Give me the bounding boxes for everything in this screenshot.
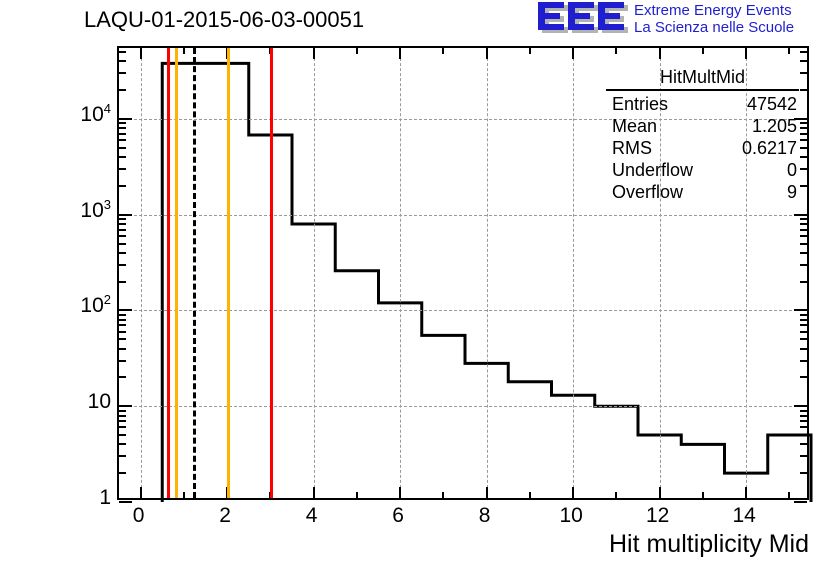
- y-axis-minor-tick: [800, 243, 807, 245]
- y-axis-minor-tick: [119, 455, 126, 457]
- x-axis-tick: [313, 48, 315, 59]
- x-axis-tick: [572, 487, 574, 498]
- y-axis-minor-tick: [119, 443, 126, 445]
- gridline-horizontal: [119, 310, 807, 311]
- stats-value: 0: [787, 159, 797, 181]
- x-axis-minor-tick: [788, 492, 790, 498]
- x-axis-tick: [745, 487, 747, 498]
- y-axis-tick: [119, 214, 132, 216]
- y-axis-tick-label: 10: [53, 391, 111, 413]
- x-axis-minor-tick: [183, 492, 185, 498]
- x-axis-tick: [745, 48, 747, 59]
- y-axis-minor-tick: [119, 243, 126, 245]
- stats-value: 47542: [747, 93, 797, 115]
- y-axis-minor-tick: [119, 420, 126, 422]
- stats-box: HitMultMid Entries47542Mean1.205RMS0.621…: [606, 66, 799, 203]
- y-axis-minor-tick: [800, 89, 807, 91]
- y-axis-minor-tick: [119, 324, 126, 326]
- marker-line-orange-upper: [227, 48, 230, 498]
- stats-rows: Entries47542Mean1.205RMS0.6217Underflow0…: [606, 93, 799, 203]
- gridline-vertical: [573, 48, 574, 498]
- y-axis-minor-tick: [119, 147, 126, 149]
- root-canvas: LAQU-01-2015-06-03-00051: [0, 0, 836, 572]
- x-axis-tick: [659, 487, 661, 498]
- y-axis-minor-tick: [119, 89, 126, 91]
- x-axis-minor-tick: [183, 48, 185, 54]
- y-axis-minor-tick: [119, 218, 126, 220]
- y-axis-minor-tick: [800, 229, 807, 231]
- y-axis-minor-tick: [800, 218, 807, 220]
- x-axis-minor-tick: [615, 492, 617, 498]
- marker-line-red-upper: [270, 48, 273, 498]
- y-axis-minor-tick: [119, 360, 126, 362]
- y-axis-tick: [119, 118, 132, 120]
- x-axis-minor-tick: [702, 492, 704, 498]
- x-axis-tick: [399, 48, 401, 59]
- gridline-horizontal: [119, 406, 807, 407]
- y-axis-minor-tick: [119, 376, 126, 378]
- y-axis-minor-tick: [119, 156, 126, 158]
- stats-divider: [606, 89, 799, 91]
- x-axis-tick: [140, 487, 142, 498]
- eee-logo-mark-icon: [536, 2, 628, 36]
- x-axis-minor-tick: [702, 48, 704, 54]
- page-title: LAQU-01-2015-06-03-00051: [84, 6, 364, 34]
- eee-logo: Extreme Energy Events La Scienza nelle S…: [536, 2, 834, 38]
- y-axis-minor-tick: [800, 60, 807, 62]
- stats-value: 1.205: [752, 115, 797, 137]
- y-axis-minor-tick: [119, 72, 126, 74]
- gridline-vertical: [400, 48, 401, 498]
- y-axis-minor-tick: [800, 133, 807, 135]
- stats-label: RMS: [612, 137, 652, 159]
- y-axis-minor-tick: [119, 223, 126, 225]
- y-axis-minor-tick: [800, 472, 807, 474]
- stats-label: Overflow: [612, 181, 683, 203]
- stats-value: 9: [787, 181, 797, 203]
- y-axis-minor-tick: [800, 281, 807, 283]
- eee-logo-line1: Extreme Energy Events: [634, 2, 794, 19]
- marker-line-mean-line: [193, 48, 196, 498]
- y-axis-tick: [119, 501, 132, 503]
- y-axis-tick-label: 103: [53, 200, 111, 222]
- y-axis-minor-tick: [800, 264, 807, 266]
- x-axis-tick-label: 4: [292, 504, 332, 528]
- y-axis-minor-tick: [119, 235, 126, 237]
- gridline-vertical: [141, 48, 142, 498]
- y-axis-minor-tick: [119, 331, 126, 333]
- x-axis-tick-label: 10: [551, 504, 591, 528]
- y-axis-minor-tick: [800, 348, 807, 350]
- y-axis-tick: [119, 405, 132, 407]
- stats-value: 0.6217: [742, 137, 797, 159]
- y-axis-minor-tick: [800, 314, 807, 316]
- y-axis-tick-label: 104: [53, 104, 111, 126]
- y-axis-minor-tick: [800, 235, 807, 237]
- y-axis-minor-tick: [119, 348, 126, 350]
- y-axis-tick-label: 1: [53, 487, 111, 509]
- y-axis-minor-tick: [800, 360, 807, 362]
- x-axis-tick: [140, 48, 142, 59]
- y-axis-tick: [794, 309, 807, 311]
- y-axis-minor-tick: [119, 168, 126, 170]
- x-axis-tick: [486, 487, 488, 498]
- y-axis-minor-tick: [119, 472, 126, 474]
- x-axis-tick-label: 12: [638, 504, 678, 528]
- y-axis-minor-tick: [800, 156, 807, 158]
- y-axis-tick: [794, 214, 807, 216]
- y-axis-minor-tick: [800, 252, 807, 254]
- y-axis-minor-tick: [800, 338, 807, 340]
- y-axis-tick: [794, 501, 807, 503]
- y-axis-minor-tick: [800, 127, 807, 129]
- x-axis-tick-label: 0: [119, 504, 159, 528]
- x-axis-tick: [659, 48, 661, 59]
- x-axis-tick: [486, 48, 488, 59]
- x-axis-minor-tick: [442, 492, 444, 498]
- x-axis-minor-tick: [356, 48, 358, 54]
- stats-row: Entries47542: [606, 93, 799, 115]
- y-axis-minor-tick: [800, 139, 807, 141]
- y-axis-minor-tick: [119, 122, 126, 124]
- x-axis-minor-tick: [788, 48, 790, 54]
- x-axis-minor-tick: [615, 48, 617, 54]
- x-axis-tick: [572, 48, 574, 59]
- y-axis-minor-tick: [800, 455, 807, 457]
- eee-logo-line2: La Scienza nelle Scuole: [634, 19, 794, 36]
- gridline-vertical: [487, 48, 488, 498]
- x-axis-minor-tick: [529, 492, 531, 498]
- x-axis-minor-tick: [442, 48, 444, 54]
- y-axis-minor-tick: [800, 51, 807, 53]
- y-axis-minor-tick: [119, 60, 126, 62]
- x-axis-tick-label: 2: [205, 504, 245, 528]
- x-axis-tick: [399, 487, 401, 498]
- stats-row: Mean1.205: [606, 115, 799, 137]
- eee-logo-text: Extreme Energy Events La Scienza nelle S…: [634, 2, 794, 36]
- y-axis-minor-tick: [800, 415, 807, 417]
- y-axis-tick: [119, 309, 132, 311]
- gridline-horizontal: [119, 215, 807, 216]
- stats-row: RMS0.6217: [606, 137, 799, 159]
- y-axis-minor-tick: [800, 185, 807, 187]
- y-axis-minor-tick: [800, 147, 807, 149]
- y-axis-minor-tick: [800, 443, 807, 445]
- y-axis-minor-tick: [119, 139, 126, 141]
- y-axis-minor-tick: [119, 314, 126, 316]
- y-axis-minor-tick: [119, 229, 126, 231]
- x-axis-minor-tick: [356, 492, 358, 498]
- x-axis-title: Hit multiplicity Mid: [609, 529, 809, 559]
- y-axis-minor-tick: [800, 223, 807, 225]
- y-axis-minor-tick: [119, 264, 126, 266]
- y-axis-tick-label: 102: [53, 295, 111, 317]
- y-axis-minor-tick: [119, 434, 126, 436]
- y-axis-minor-tick: [119, 281, 126, 283]
- y-axis-minor-tick: [800, 410, 807, 412]
- y-axis-minor-tick: [119, 426, 126, 428]
- y-axis-minor-tick: [800, 420, 807, 422]
- x-axis-tick-label: 8: [465, 504, 505, 528]
- stats-title: HitMultMid: [606, 66, 799, 89]
- gridline-vertical: [314, 48, 315, 498]
- stats-label: Entries: [612, 93, 668, 115]
- x-axis-minor-tick: [529, 48, 531, 54]
- y-axis-tick: [794, 405, 807, 407]
- stats-label: Underflow: [612, 159, 693, 181]
- marker-line-red-lower: [167, 48, 170, 498]
- stats-label: Mean: [612, 115, 657, 137]
- y-axis-minor-tick: [119, 51, 126, 53]
- y-axis-minor-tick: [119, 252, 126, 254]
- marker-line-orange-lower: [175, 48, 178, 498]
- y-axis-minor-tick: [800, 319, 807, 321]
- y-axis-minor-tick: [119, 185, 126, 187]
- y-axis-minor-tick: [119, 415, 126, 417]
- x-axis-tick-label: 6: [378, 504, 418, 528]
- y-axis-minor-tick: [800, 122, 807, 124]
- x-axis-tick: [313, 487, 315, 498]
- y-axis-minor-tick: [119, 338, 126, 340]
- y-axis-minor-tick: [119, 410, 126, 412]
- y-axis-minor-tick: [800, 434, 807, 436]
- y-axis-minor-tick: [800, 168, 807, 170]
- y-axis-minor-tick: [800, 324, 807, 326]
- y-axis-minor-tick: [119, 127, 126, 129]
- y-axis-minor-tick: [119, 133, 126, 135]
- stats-row: Underflow0: [606, 159, 799, 181]
- y-axis-minor-tick: [800, 72, 807, 74]
- y-axis-minor-tick: [800, 376, 807, 378]
- y-axis-minor-tick: [800, 331, 807, 333]
- y-axis-minor-tick: [800, 426, 807, 428]
- x-axis-tick-label: 14: [724, 504, 764, 528]
- stats-row: Overflow9: [606, 181, 799, 203]
- y-axis-minor-tick: [119, 319, 126, 321]
